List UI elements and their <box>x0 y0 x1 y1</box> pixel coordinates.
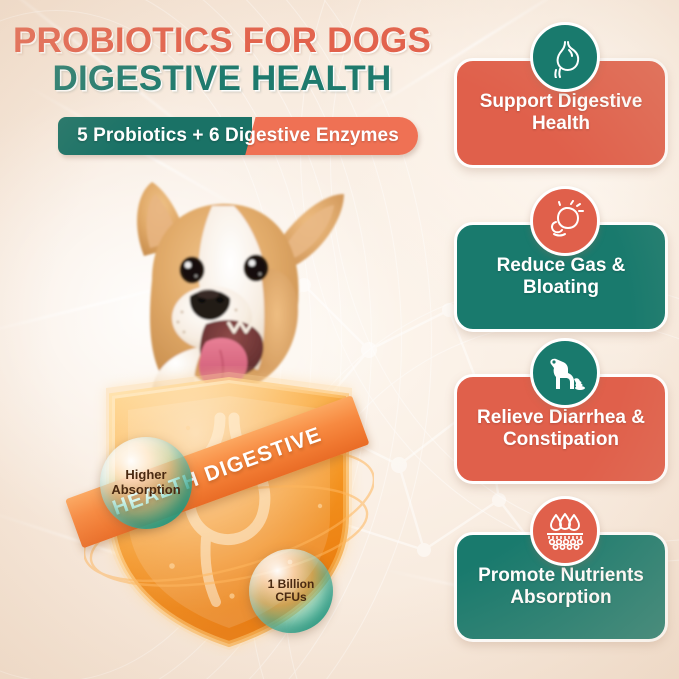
corgi-dog-photo <box>108 160 378 395</box>
higher-absorption-bubble: Higher Absorption <box>100 437 192 529</box>
pooping-dog-icon-badge <box>530 338 600 408</box>
nutrient-droplets-icon <box>543 509 587 553</box>
headline-block: PROBIOTICS FOR DOGS DIGESTIVE HEALTH <box>0 22 444 98</box>
bloated-intestine-icon-badge <box>530 186 600 256</box>
stomach-icon <box>544 36 586 78</box>
pill-label: 5 Probiotics + 6 Digestive Enzymes <box>58 117 418 155</box>
nutrient-droplets-icon-badge <box>530 496 600 566</box>
higher-absorption-label: Higher Absorption <box>100 468 192 497</box>
headline-line-2: DIGESTIVE HEALTH <box>0 59 444 98</box>
feature-label: Relieve Diarrhea & Constipation <box>457 407 665 451</box>
headline-line-1: PROBIOTICS FOR DOGS <box>0 22 444 59</box>
stomach-icon-badge <box>530 22 600 92</box>
feature-label: Promote Nutrients Absorption <box>457 565 665 609</box>
feature-card-list: Support Digestive Health Reduce Gas & Bl… <box>450 0 679 679</box>
one-billion-cfus-label: 1 Billion CFUs <box>249 578 333 605</box>
one-billion-cfus-bubble: 1 Billion CFUs <box>249 549 333 633</box>
ingredient-count-pill: 5 Probiotics + 6 Digestive Enzymes <box>58 117 418 155</box>
pooping-dog-icon <box>543 351 587 395</box>
feature-label: Reduce Gas & Bloating <box>457 255 665 299</box>
infographic-canvas: PROBIOTICS FOR DOGS DIGESTIVE HEALTH 5 P… <box>0 0 679 679</box>
feature-label: Support Digestive Health <box>457 91 665 135</box>
bloated-intestine-icon <box>544 200 586 242</box>
